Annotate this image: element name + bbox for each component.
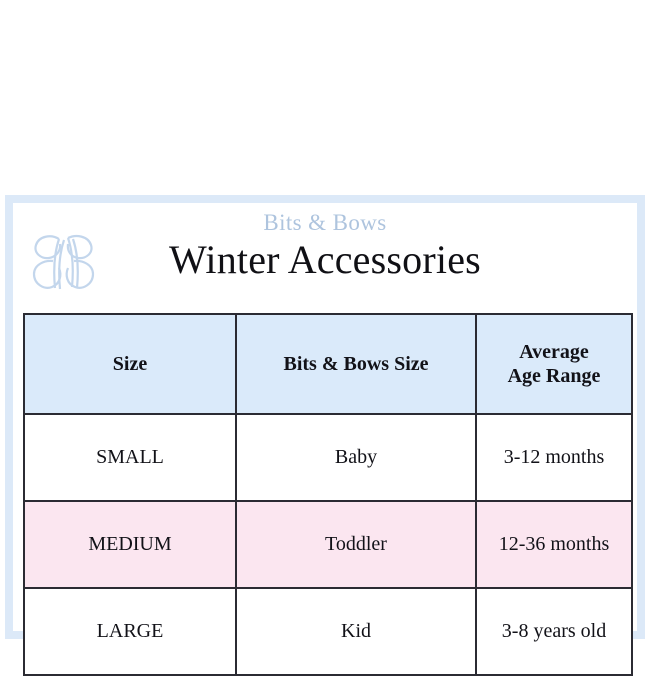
table-row: MEDIUM Toddler 12-36 months (24, 501, 632, 588)
cell-size: LARGE (24, 588, 236, 675)
table-body: SMALL Baby 3-12 months MEDIUM Toddler 12… (24, 414, 632, 675)
size-chart-table: Size Bits & Bows Size Average Age Range … (23, 313, 633, 676)
cell-size: MEDIUM (24, 501, 236, 588)
cell-bits-and-bows-size: Toddler (236, 501, 476, 588)
size-chart-card-inner: Bits & Bows Winter Accessories Size Bits… (13, 203, 637, 631)
size-chart-page: Bits & Bows Winter Accessories Size Bits… (0, 0, 650, 650)
table-header: Size Bits & Bows Size Average Age Range (24, 314, 632, 414)
cell-average-age-range: 12-36 months (476, 501, 632, 588)
size-table-container: Size Bits & Bows Size Average Age Range … (23, 313, 631, 676)
table-header-row: Size Bits & Bows Size Average Age Range (24, 314, 632, 414)
column-header-size: Size (24, 314, 236, 414)
column-header-average-age-range-line1: Average (483, 340, 625, 364)
column-header-average-age-range-line2: Age Range (483, 364, 625, 388)
table-row: LARGE Kid 3-8 years old (24, 588, 632, 675)
page-title: Winter Accessories (13, 239, 637, 281)
cell-size: SMALL (24, 414, 236, 501)
table-row: SMALL Baby 3-12 months (24, 414, 632, 501)
cell-average-age-range: 3-12 months (476, 414, 632, 501)
cell-bits-and-bows-size: Baby (236, 414, 476, 501)
brand-subtitle: Bits & Bows (13, 210, 637, 236)
size-chart-card: Bits & Bows Winter Accessories Size Bits… (5, 195, 645, 639)
cell-average-age-range: 3-8 years old (476, 588, 632, 675)
column-header-bits-and-bows-size: Bits & Bows Size (236, 314, 476, 414)
column-header-average-age-range: Average Age Range (476, 314, 632, 414)
cell-bits-and-bows-size: Kid (236, 588, 476, 675)
brand-header: Bits & Bows Winter Accessories (13, 203, 637, 307)
